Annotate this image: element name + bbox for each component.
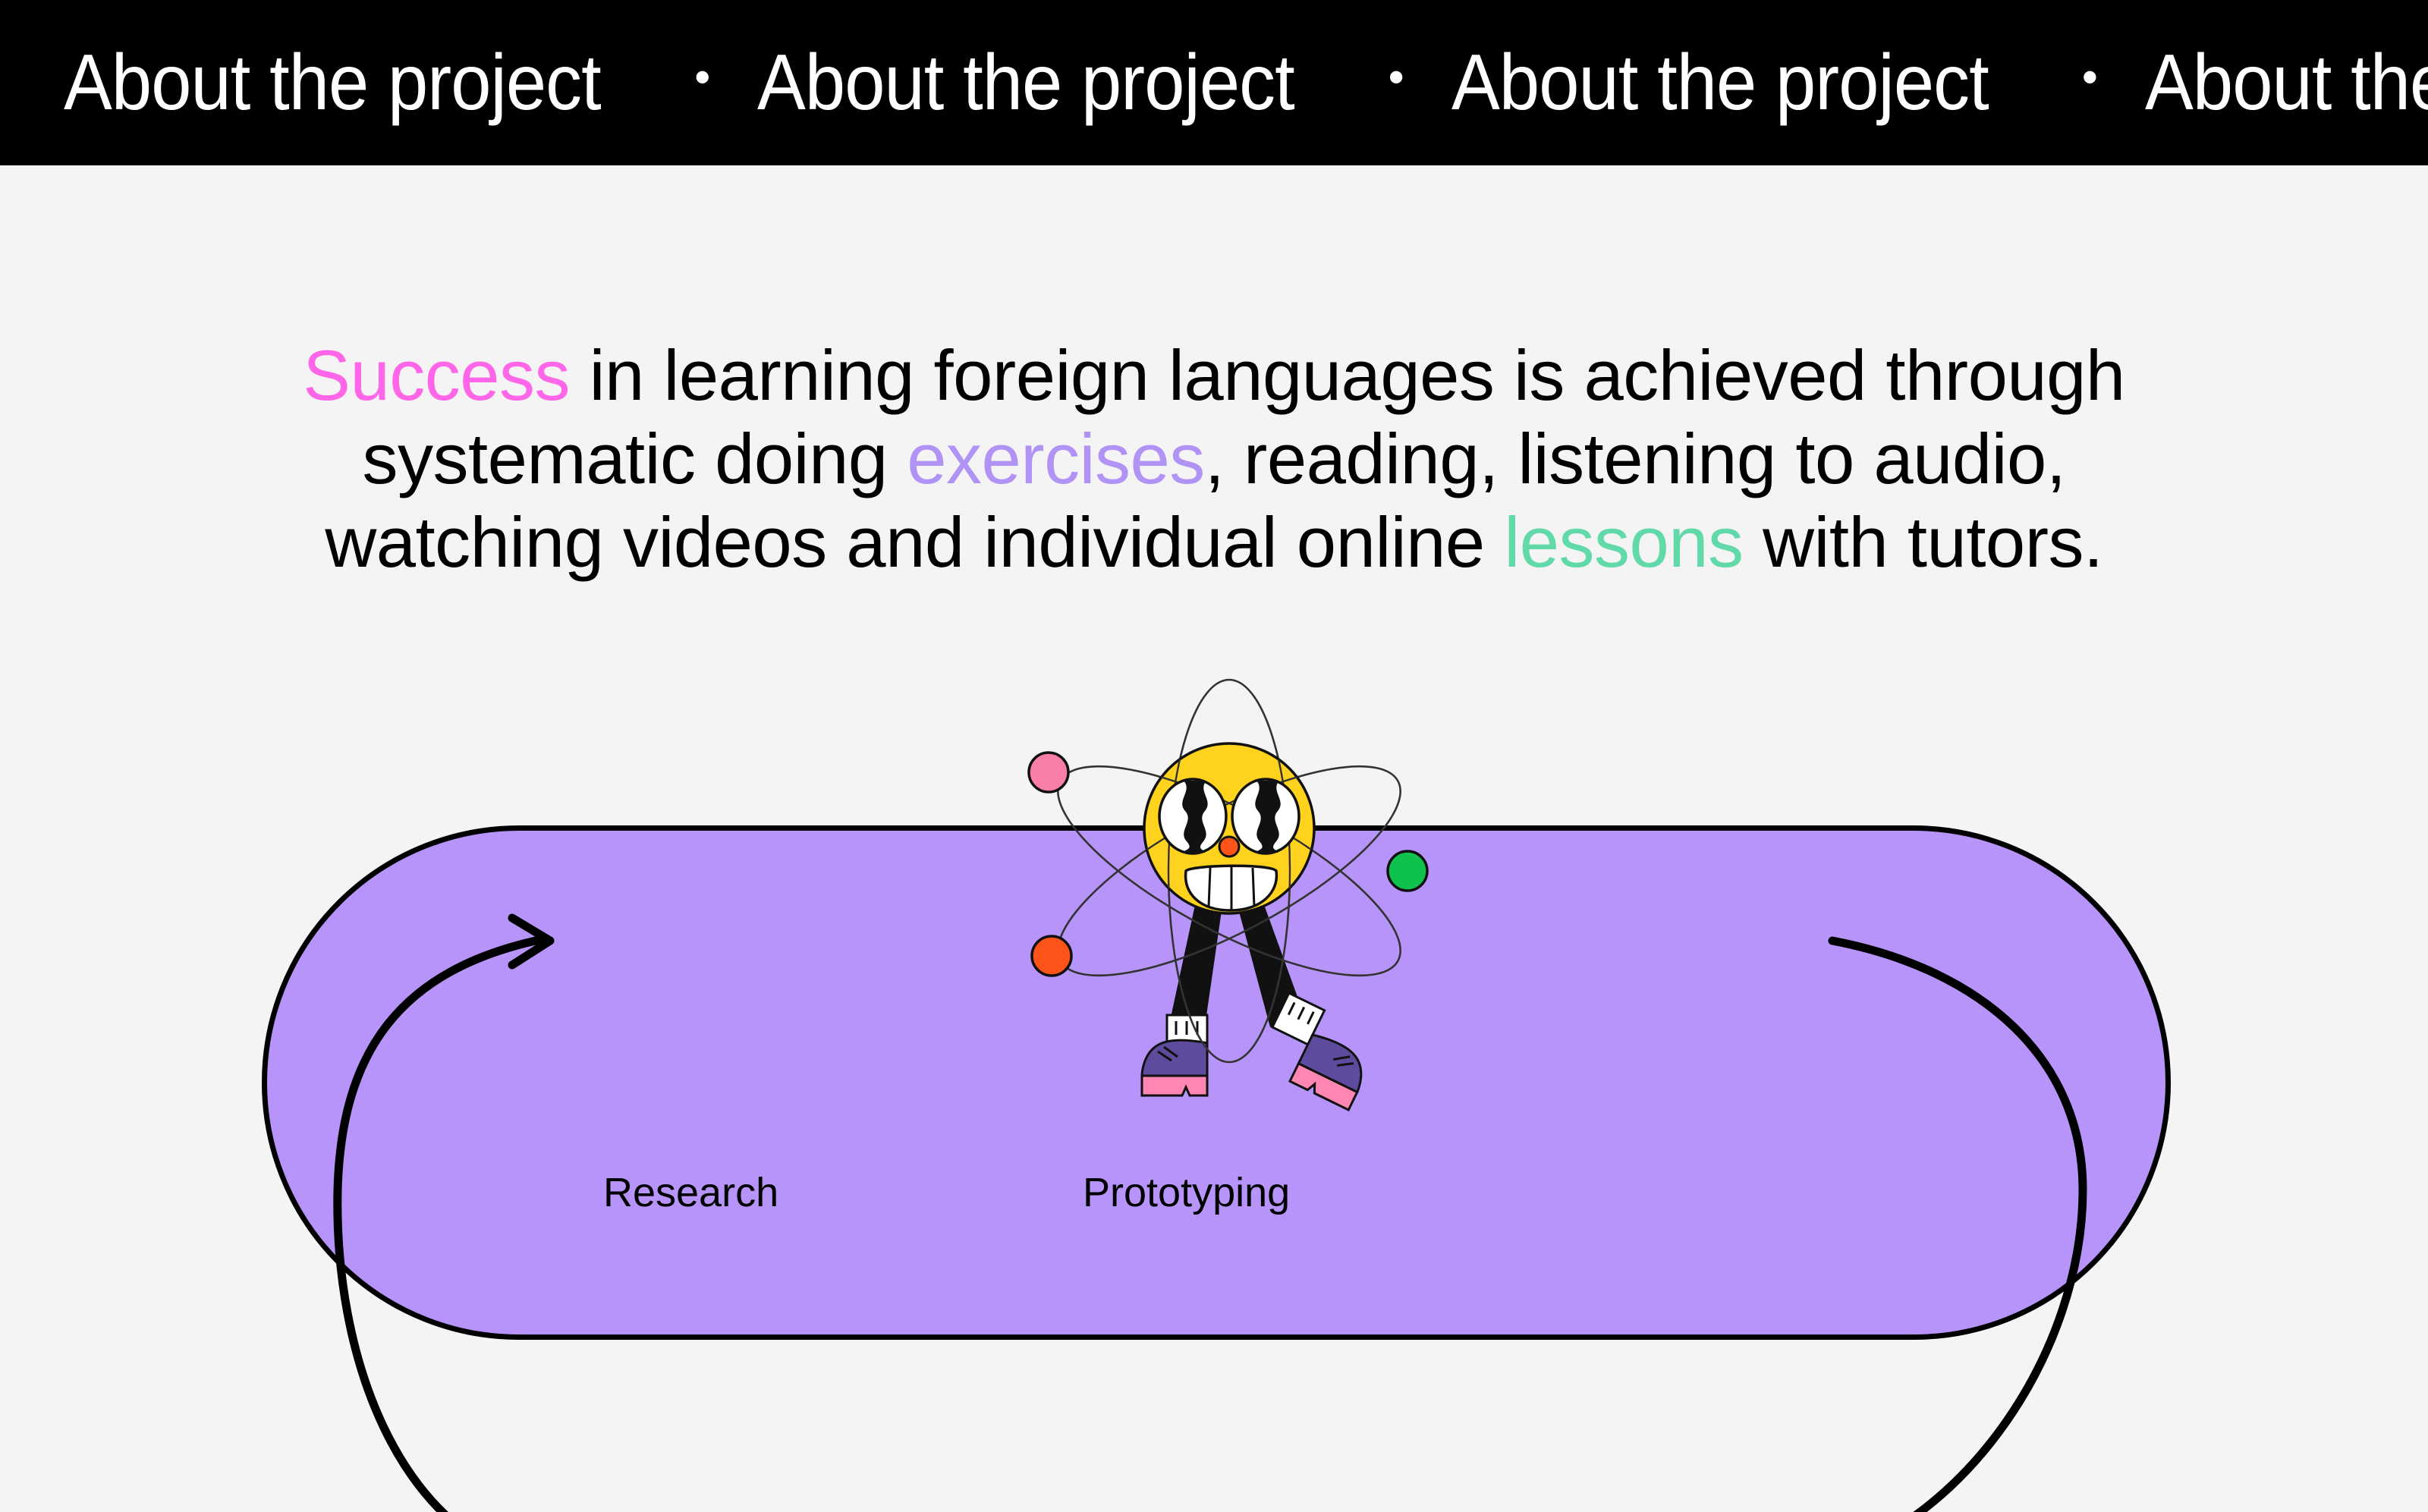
marquee-item-3: About the project	[1451, 43, 1989, 122]
headline-highlight-exercises: exercises	[907, 419, 1205, 498]
headline-line-3: watching videos and individual online le…	[0, 501, 2428, 584]
headline-line-3-after: with tutors.	[1744, 502, 2103, 582]
right-loop-arrow-path	[1813, 941, 2083, 1512]
electron-orange-icon	[1032, 936, 1071, 976]
stage-label-prototyping[interactable]: Prototyping	[1083, 1172, 1290, 1213]
marquee-banner: About the project • About the project • …	[0, 0, 2428, 165]
marquee-separator-dot-2: •	[1341, 55, 1451, 111]
nose	[1219, 837, 1239, 857]
left-shoe-sole	[1142, 1076, 1207, 1095]
headline-line-2: systematic doing exercises, reading, lis…	[0, 417, 2428, 501]
headline-line-2-after: , reading, listening to audio,	[1205, 419, 2066, 498]
headline-line-1-rest: in learning foreign languages is achieve…	[570, 335, 2125, 415]
left-shoe	[1142, 1015, 1207, 1095]
stage-label-research[interactable]: Research	[603, 1172, 778, 1213]
headline-line-2-before: systematic doing	[363, 419, 907, 498]
electron-green-icon	[1388, 851, 1427, 891]
mascot-face	[1032, 680, 1426, 1062]
left-leg	[1171, 900, 1222, 1029]
atom-mascot	[994, 660, 1464, 1130]
marquee-separator-dot-3: •	[2035, 55, 2145, 111]
headline-highlight-success: Success	[303, 335, 570, 415]
left-loop-arrow-path	[338, 939, 543, 1512]
marquee-separator-dot-1: •	[647, 55, 757, 111]
left-shoe-upper	[1142, 1040, 1207, 1076]
marquee-item-2: About the project	[757, 43, 1294, 122]
marquee-item-1: About the project	[64, 43, 601, 122]
headline-line-3-before: watching videos and individual online	[325, 502, 1504, 582]
marquee-item-4: About the project	[2145, 43, 2428, 122]
headline-highlight-lessons: lessons	[1504, 502, 1743, 582]
electron-pink-icon	[1029, 753, 1068, 792]
headline: Success in learning foreign languages is…	[0, 334, 2428, 584]
headline-line-1: Success in learning foreign languages is…	[0, 334, 2428, 417]
marquee-track: About the project • About the project • …	[0, 43, 2428, 122]
